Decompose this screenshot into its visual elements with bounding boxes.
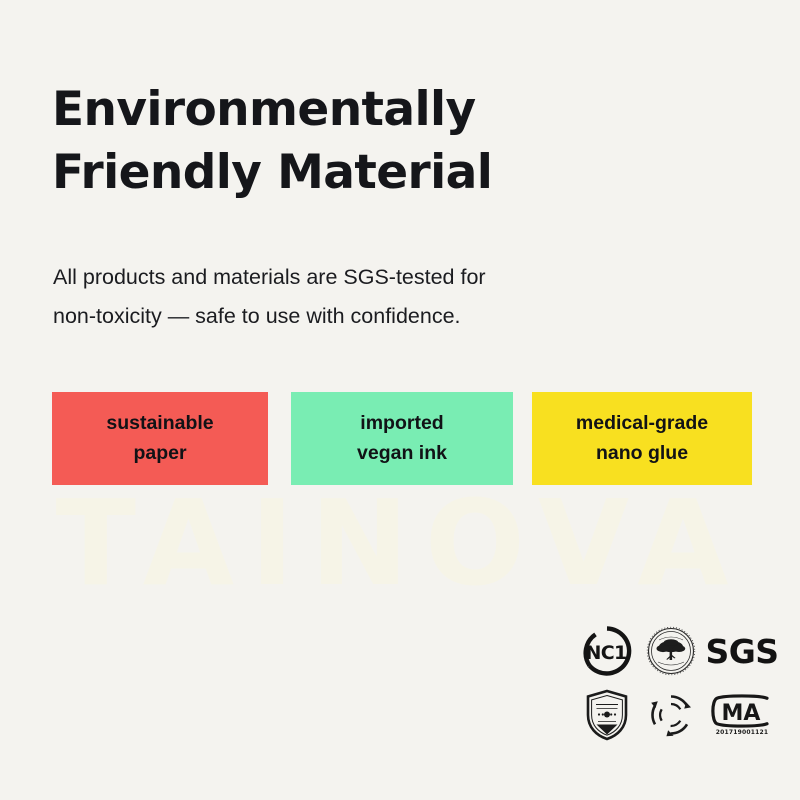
- chip-label-line-2: paper: [133, 439, 186, 469]
- page-subtitle: All products and materials are SGS-teste…: [53, 258, 713, 336]
- forest-stewardship-seal-icon: [638, 622, 704, 680]
- page-title: Environmentally Friendly Material: [52, 79, 752, 204]
- ma-serial-number: 201719001121: [716, 729, 769, 736]
- page-subtitle-line-2: non-toxicity — safe to use with confiden…: [53, 297, 713, 336]
- page-title-line-2: Friendly Material: [52, 142, 752, 205]
- svg-text:MA: MA: [722, 701, 761, 726]
- page-title-line-1: Environmentally: [52, 79, 752, 142]
- certification-badge-group: NC1: [576, 622, 780, 748]
- chip-label-line-1: sustainable: [106, 409, 213, 439]
- chip-label-line-1: imported: [360, 409, 443, 439]
- quality-shield-icon: [576, 686, 638, 744]
- chip-label-line-1: medical-grade: [576, 409, 708, 439]
- svg-text:NC1: NC1: [586, 642, 627, 664]
- ma-measurement-mark-icon: MA 201719001121: [704, 686, 780, 744]
- sgs-certification-logo: SGS: [704, 622, 780, 680]
- material-chip-group: sustainable paper imported vegan ink med…: [52, 392, 752, 487]
- material-chip-imported-vegan-ink: imported vegan ink: [291, 392, 513, 485]
- material-chip-medical-grade-nano-glue: medical-grade nano glue: [532, 392, 752, 485]
- brand-watermark: TAINOVA: [0, 484, 800, 602]
- certification-badge-row-bottom: MA 201719001121: [576, 686, 780, 744]
- recycling-symbol-icon: [638, 686, 704, 744]
- page-subtitle-line-1: All products and materials are SGS-teste…: [53, 258, 713, 297]
- poster-canvas: TAINOVA Environmentally Friendly Materia…: [0, 0, 800, 800]
- certification-badge-row-top: NC1: [576, 622, 780, 680]
- chip-label-line-2: nano glue: [596, 439, 688, 469]
- sgs-label: SGS: [705, 635, 778, 668]
- material-chip-sustainable-paper: sustainable paper: [52, 392, 268, 485]
- nc1-certification-icon: NC1: [576, 622, 638, 680]
- chip-label-line-2: vegan ink: [357, 439, 447, 469]
